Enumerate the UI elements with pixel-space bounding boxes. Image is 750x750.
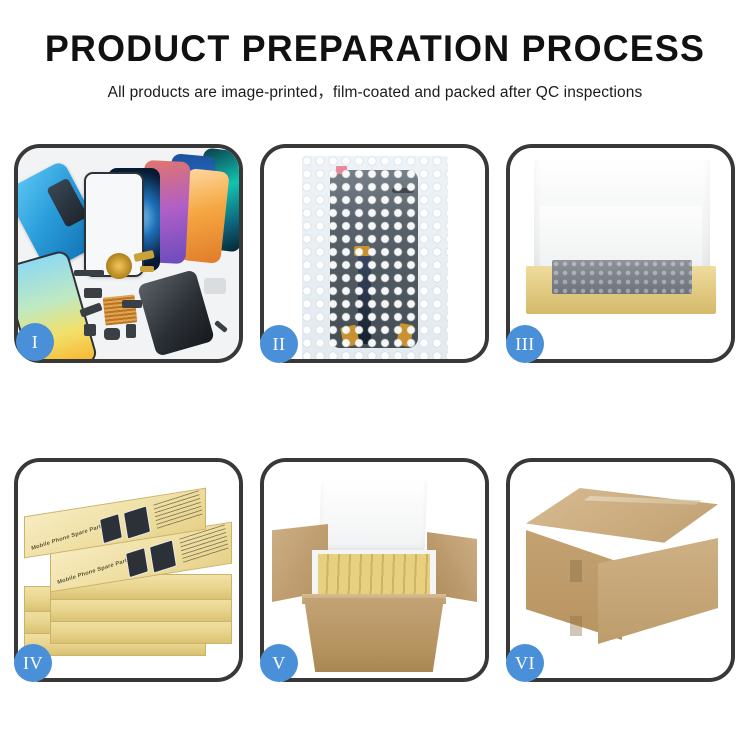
grey-bubble-wrapped-items [552, 260, 692, 294]
chip-part-2-icon [84, 288, 102, 298]
speaker-coil-icon [106, 253, 132, 279]
bubble-wrap-bag [302, 156, 448, 359]
phone-parts-illustration [18, 148, 239, 359]
step-4-image: Mobile Phone Spare Parts Mobile Phone Sp… [18, 462, 239, 678]
step-badge-3: III [506, 325, 544, 363]
step-badge-1: I [16, 323, 54, 361]
step-3-image [510, 148, 731, 359]
process-step-panel-1: I [14, 144, 243, 363]
carton-seam-lower [570, 616, 582, 636]
chip-part-1-icon [74, 270, 104, 276]
box-art-phone-3-icon [125, 547, 149, 578]
chip-part-5-icon [104, 328, 120, 340]
process-step-panel-2: II [260, 144, 489, 363]
step-badge-6: VI [506, 644, 544, 682]
box-art-phone-2-icon [123, 505, 151, 539]
chip-part-4-icon [84, 324, 96, 336]
stacked-boxes: Mobile Phone Spare Parts Mobile Phone Sp… [20, 480, 239, 660]
carton-front-wall [304, 598, 444, 672]
process-step-panel-5: V [260, 458, 489, 682]
process-steps-grid: I II [14, 144, 736, 682]
page-subtitle: All products are image-printed，film-coat… [0, 80, 750, 102]
box-art-phone-1-icon [99, 513, 123, 544]
tweezers-icon [204, 278, 226, 294]
screw-set-icon [214, 320, 228, 333]
bubble-texture [302, 156, 448, 359]
sealed-carton [526, 488, 718, 640]
carton-right-face [598, 538, 718, 644]
process-step-panel-4: Mobile Phone Spare Parts Mobile Phone Sp… [14, 458, 243, 682]
step-6-image [510, 462, 731, 678]
page-header: PRODUCT PREPARATION PROCESS All products… [0, 0, 750, 102]
gold-flex-2-icon [140, 266, 154, 272]
step-badge-4: IV [14, 644, 52, 682]
product-preparation-process-page: PRODUCT PREPARATION PROCESS All products… [0, 0, 750, 750]
box-spec-lines-1 [153, 490, 203, 529]
step-badge-2: II [260, 325, 298, 363]
box-art-phone-4-icon [149, 539, 177, 573]
step-badge-5: V [260, 644, 298, 682]
process-step-panel-3: III [506, 144, 735, 363]
chip-part-7-icon [122, 300, 142, 308]
step-2-image [264, 148, 485, 359]
foam-lid [319, 480, 428, 552]
chip-part-6-icon [126, 324, 136, 338]
carton-seam-upper [570, 560, 582, 582]
process-step-panel-6: VI [506, 458, 735, 682]
step-1-image [18, 148, 239, 359]
page-title: PRODUCT PREPARATION PROCESS [11, 30, 739, 69]
step-5-image [264, 462, 485, 678]
